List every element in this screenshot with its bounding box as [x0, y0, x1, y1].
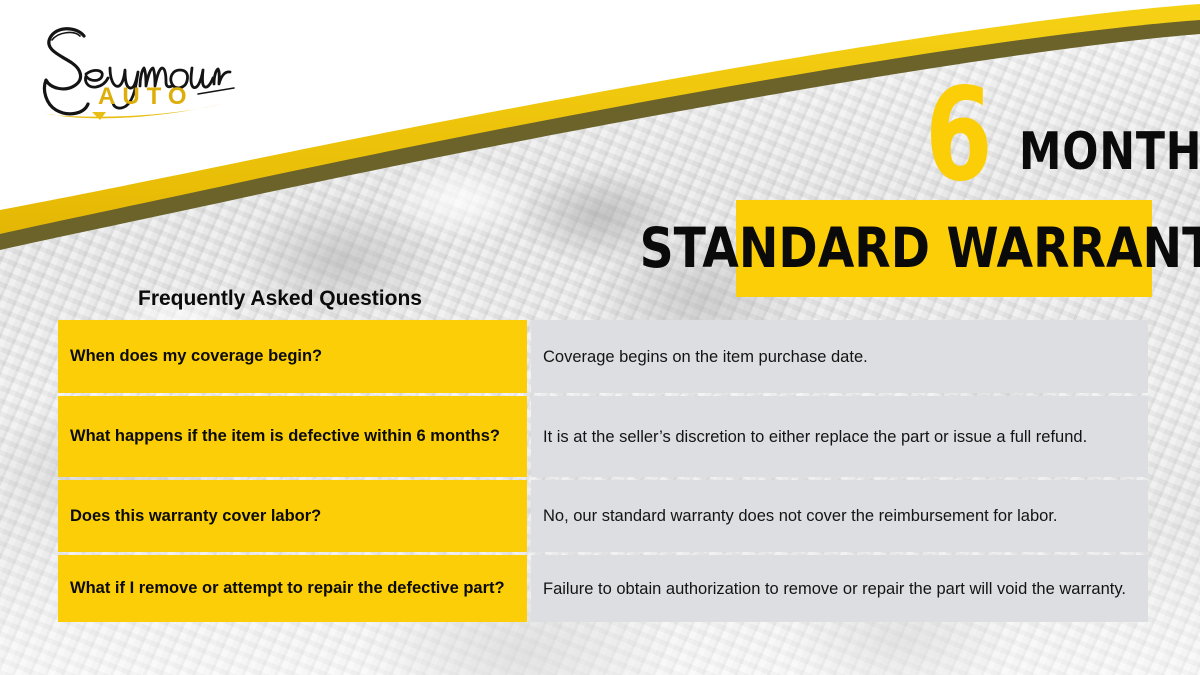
faq-answer-text: No, our standard warranty does not cover…: [543, 505, 1134, 527]
faq-answer-cell: Failure to obtain authorization to remov…: [531, 555, 1148, 622]
faq-question-cell: What if I remove or attempt to repair th…: [58, 555, 527, 622]
faq-answer-cell: Coverage begins on the item purchase dat…: [531, 320, 1148, 393]
faq-answer-text: Failure to obtain authorization to remov…: [543, 578, 1134, 600]
faq-question-text: Does this warranty cover labor?: [70, 506, 321, 527]
table-row: What happens if the item is defective wi…: [58, 396, 1148, 477]
faq-answer-text: It is at the seller’s discretion to eith…: [543, 426, 1134, 448]
faq-answer-text: Coverage begins on the item purchase dat…: [543, 346, 1134, 368]
warranty-duration-number: 6: [925, 72, 991, 200]
warranty-duration-unit: MONTH: [1019, 126, 1200, 178]
table-row: What if I remove or attempt to repair th…: [58, 555, 1148, 622]
faq-heading: Frequently Asked Questions: [138, 287, 422, 311]
faq-question-text: What happens if the item is defective wi…: [70, 426, 500, 447]
seymour-auto-logo[interactable]: AUTO: [22, 16, 237, 126]
faq-answer-cell: It is at the seller’s discretion to eith…: [531, 396, 1148, 477]
faq-question-cell: When does my coverage begin?: [58, 320, 527, 393]
table-row: When does my coverage begin? Coverage be…: [58, 320, 1148, 393]
faq-question-text: What if I remove or attempt to repair th…: [70, 578, 505, 599]
faq-answer-cell: No, our standard warranty does not cover…: [531, 480, 1148, 552]
faq-question-cell: Does this warranty cover labor?: [58, 480, 527, 552]
faq-question-text: When does my coverage begin?: [70, 346, 322, 367]
svg-text:AUTO: AUTO: [98, 83, 194, 110]
faq-question-cell: What happens if the item is defective wi…: [58, 396, 527, 477]
warranty-slide: AUTO 6 MONTH STANDARD WARRANTY Frequentl…: [0, 0, 1200, 675]
table-row: Does this warranty cover labor? No, our …: [58, 480, 1148, 552]
standard-warranty-title: STANDARD WARRANTY: [639, 221, 1200, 276]
faq-table: When does my coverage begin? Coverage be…: [58, 320, 1148, 623]
standard-warranty-band: STANDARD WARRANTY: [736, 200, 1152, 297]
